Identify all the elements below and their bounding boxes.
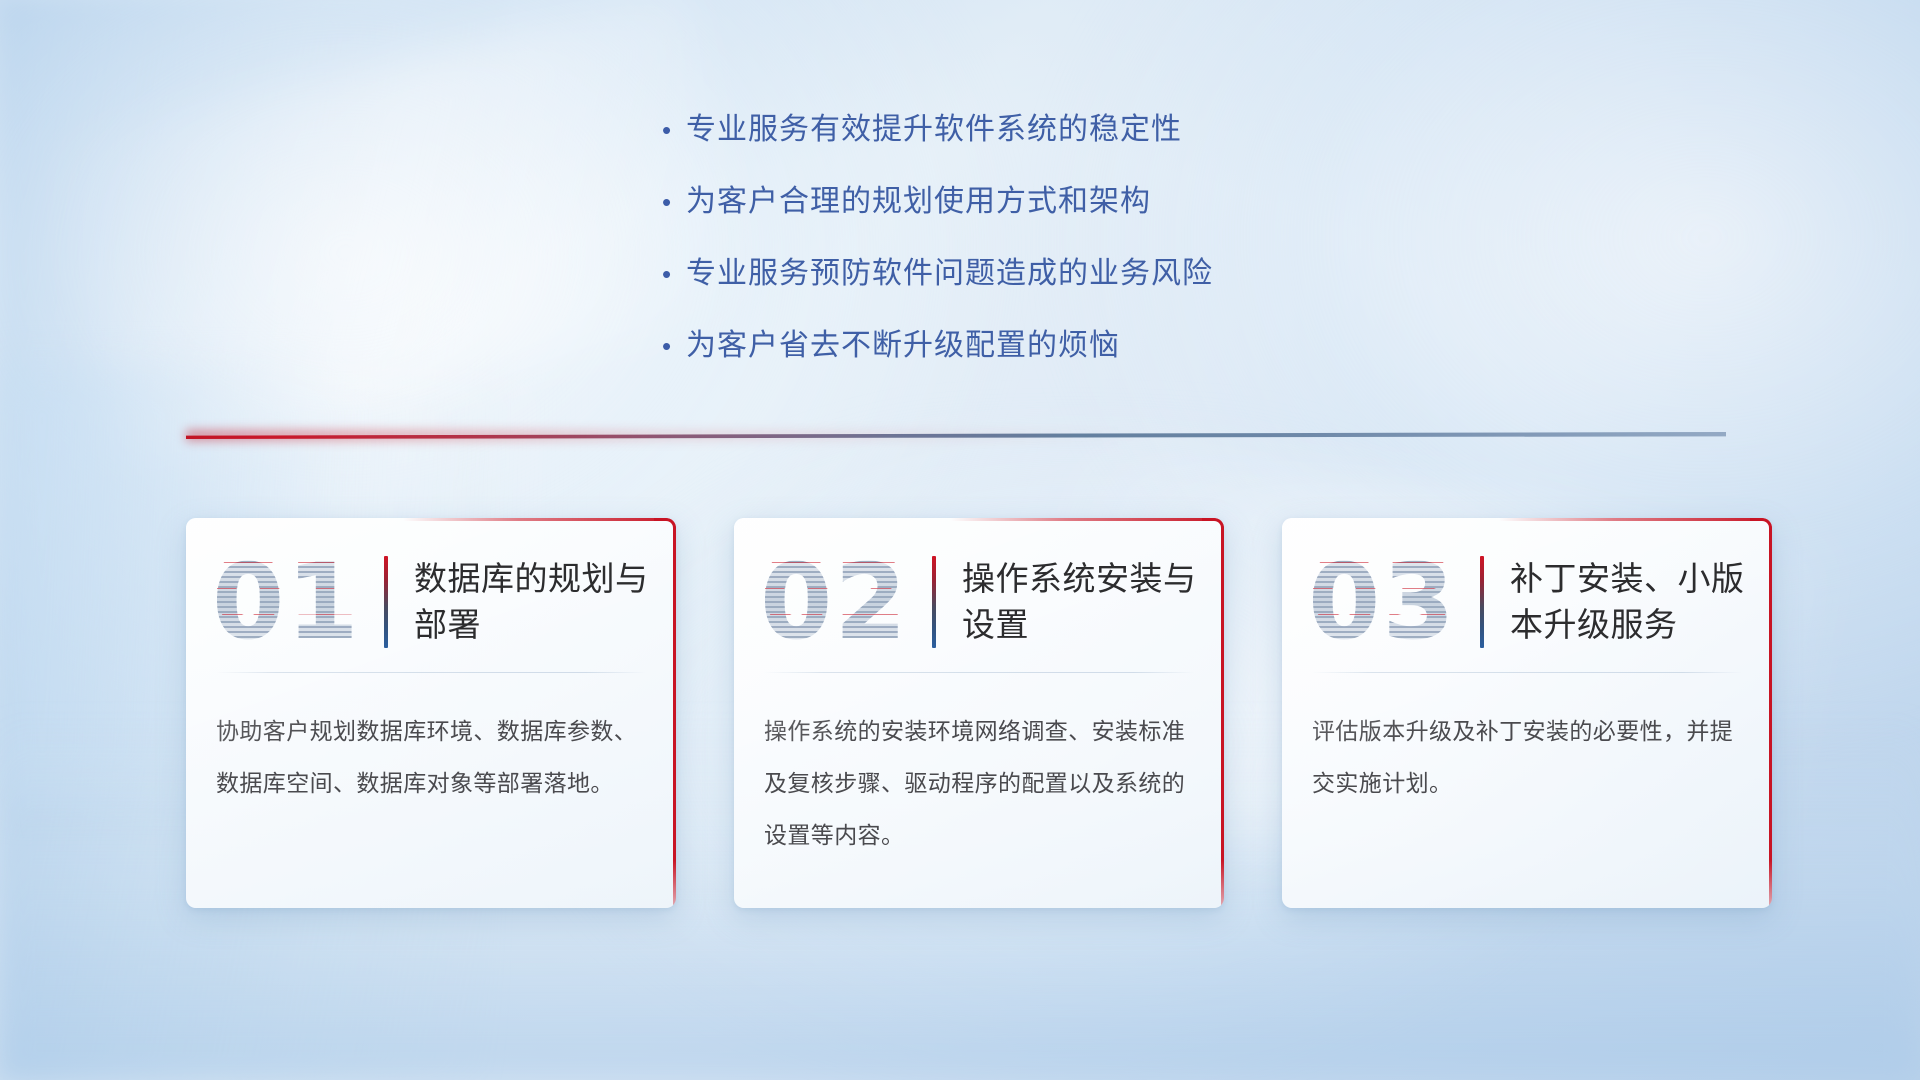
benefits-bullet-list: • 专业服务有效提升软件系统的稳定性 • 为客户合理的规划使用方式和架构 • 专… — [660, 110, 1420, 398]
list-item: • 为客户省去不断升级配置的烦恼 — [660, 326, 1420, 366]
card-accent-bar — [1480, 556, 1484, 648]
bullet-item-text: 专业服务预防软件问题造成的业务风险 — [686, 254, 1213, 294]
bullet-dot-icon: • — [660, 254, 686, 294]
section-divider — [186, 428, 1726, 446]
card-description: 评估版本升级及补丁安装的必要性，并提交实施计划。 — [1282, 673, 1772, 809]
card-title: 操作系统安装与设置 — [962, 556, 1198, 648]
list-item: • 专业服务预防软件问题造成的业务风险 — [660, 254, 1420, 294]
service-card-03[interactable]: 03 03 补丁安装、小版本升级服务 评估版本升级及补丁安装的必要性，并提交实施… — [1282, 518, 1772, 908]
bullet-item-text: 为客户省去不断升级配置的烦恼 — [686, 326, 1120, 366]
service-card-group: 01 01 数据库的规划与部署 协助客户规划数据库环境、数据库参数、数据库空间、… — [186, 518, 1772, 908]
card-number: 01 — [212, 546, 380, 658]
card-accent-bar — [932, 556, 936, 648]
card-title: 数据库的规划与部署 — [414, 556, 650, 648]
list-item: • 专业服务有效提升软件系统的稳定性 — [660, 110, 1420, 150]
service-card-01[interactable]: 01 01 数据库的规划与部署 协助客户规划数据库环境、数据库参数、数据库空间、… — [186, 518, 676, 908]
bullet-dot-icon: • — [660, 326, 686, 366]
card-header: 02 02 操作系统安装与设置 — [734, 518, 1224, 668]
bullet-dot-icon: • — [660, 182, 686, 222]
card-number: 03 — [1308, 546, 1476, 658]
service-card-02[interactable]: 02 02 操作系统安装与设置 操作系统的安装环境网络调查、安装标准及复核步骤、… — [734, 518, 1224, 908]
card-header: 03 03 补丁安装、小版本升级服务 — [1282, 518, 1772, 668]
card-title: 补丁安装、小版本升级服务 — [1510, 556, 1746, 648]
card-accent-bar — [384, 556, 388, 648]
bullet-item-text: 专业服务有效提升软件系统的稳定性 — [686, 110, 1182, 150]
card-description: 操作系统的安装环境网络调查、安装标准及复核步骤、驱动程序的配置以及系统的设置等内… — [734, 673, 1224, 861]
list-item: • 为客户合理的规划使用方式和架构 — [660, 182, 1420, 222]
bullet-item-text: 为客户合理的规划使用方式和架构 — [686, 182, 1151, 222]
card-description: 协助客户规划数据库环境、数据库参数、数据库空间、数据库对象等部署落地。 — [186, 673, 676, 809]
bullet-dot-icon: • — [660, 110, 686, 150]
card-header: 01 01 数据库的规划与部署 — [186, 518, 676, 668]
card-number: 02 — [760, 546, 928, 658]
